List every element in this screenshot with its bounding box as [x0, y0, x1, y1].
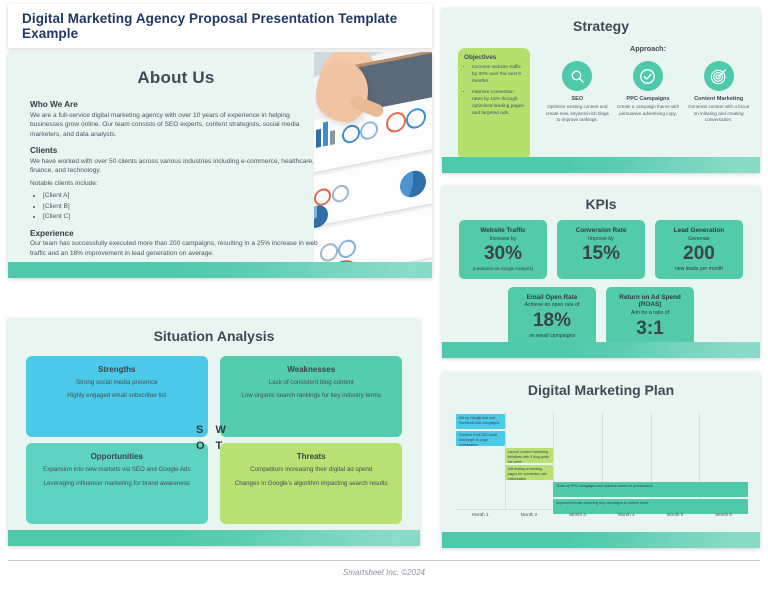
kpi-footnote: (measured via Google Analytics): [463, 266, 543, 271]
gantt-task-bar[interactable]: Set up Google Ads and Facebook Ads campa…: [456, 414, 505, 429]
approach-desc: Create a campaign theme with persuasive …: [615, 104, 681, 117]
objectives-list: Increase website traffic by 30% over the…: [464, 64, 525, 117]
list-item: Improve conversion rates by 15% through …: [472, 89, 525, 118]
about-us-card: About Us Who We Are We are a full-servic…: [8, 52, 432, 278]
team-analytics-photo: [314, 52, 432, 262]
page-title: Digital Marketing Agency Proposal Presen…: [8, 11, 432, 41]
plan-title: Digital Marketing Plan: [442, 382, 760, 398]
quadrant-heading: Strengths: [38, 365, 196, 374]
approach-item-content-marketing: Content Marketing Generate content with …: [686, 61, 752, 124]
gantt-month-label: Month 4: [602, 512, 651, 526]
approach-section: Approach: SEO Optimize existing content …: [542, 44, 754, 124]
kpi-subtitle: Achieve an open rate of: [512, 302, 592, 309]
kpi-card-return-on-ad-spend: Return on Ad Spend (ROAS) Aim for a rati…: [606, 287, 694, 347]
quadrant-point: Leveraging influencer marketing for bran…: [38, 480, 196, 488]
footer-divider: [8, 560, 760, 561]
deck-header: Digital Marketing Agency Proposal Presen…: [8, 4, 432, 48]
objectives-panel: Objectives Increase website traffic by 3…: [458, 48, 530, 160]
kpi-footnote: on email campaigns: [512, 333, 592, 339]
quadrant-point: Strong social media presence: [38, 379, 196, 387]
kpi-subtitle: Generate: [659, 236, 739, 243]
accent-bar: [8, 262, 432, 278]
accent-bar: [442, 532, 760, 548]
kpi-card-conversion-rate: Conversion Rate Improve by 15%: [557, 220, 645, 279]
accent-bar: [8, 530, 420, 546]
experience-heading: Experience: [30, 229, 322, 238]
quadrant-heading: Threats: [232, 452, 390, 461]
kpi-subtitle: Increase by: [463, 236, 543, 243]
situation-analysis-card: Situation Analysis Strengths Strong soci…: [8, 318, 420, 546]
kpi-footnote: new leads per month: [659, 266, 739, 272]
situation-analysis-title: Situation Analysis: [8, 328, 420, 344]
approach-item-ppc: PPC Campaigns Create a campaign theme wi…: [615, 61, 681, 124]
kpi-card-lead-generation: Lead Generation Generate 200 new leads p…: [655, 220, 743, 279]
swot-quadrant-opportunities: Opportunities Expansion into new markets…: [26, 443, 208, 524]
gantt-month-label: Month 5: [651, 512, 700, 526]
quadrant-heading: Weaknesses: [232, 365, 390, 374]
kpi-card-website-traffic: Website Traffic Increase by 30% (measure…: [459, 220, 547, 279]
approach-name: SEO: [544, 96, 610, 102]
gantt-task-bar[interactable]: Launch content marketing initiatives wit…: [505, 448, 554, 463]
kpi-row-1: Website Traffic Increase by 30% (measure…: [442, 220, 760, 279]
gantt-month-label: Month 6: [699, 512, 748, 526]
swot-quadrant-strengths: Strengths Strong social media presence H…: [26, 356, 208, 437]
notable-clients-list: [Client A] [Client B] [Client C]: [30, 191, 322, 222]
approach-desc: Optimize existing content and create new…: [544, 104, 610, 124]
gantt-month-label: Month 2: [505, 512, 554, 526]
swot-letter-o: O: [196, 440, 205, 452]
swot-grid: Strengths Strong social media presence H…: [26, 356, 402, 524]
swot-quadrant-weaknesses: Weaknesses Lack of consistent blog conte…: [220, 356, 402, 437]
gantt-task-bar[interactable]: A/B testing on landing pages for convers…: [505, 465, 554, 480]
kpi-value: 200: [659, 243, 739, 265]
kpi-subtitle: Aim for a ratio of: [610, 310, 690, 317]
swot-letter-w: W: [216, 424, 226, 436]
target-icon: [704, 61, 734, 91]
who-we-are-heading: Who We Are: [30, 100, 322, 109]
kpi-value: 18%: [512, 310, 592, 332]
kpi-subtitle: Improve by: [561, 236, 641, 243]
gantt-chart: Set up Google Ads and Facebook Ads campa…: [456, 412, 748, 526]
kpi-title: Website Traffic: [463, 227, 543, 235]
gantt-task-bar[interactable]: Scale up PPC campaigns and optimize base…: [553, 482, 748, 497]
quadrant-point: Changes in Google's algorithm impacting …: [232, 480, 390, 488]
gantt-month-label: Month 3: [553, 512, 602, 526]
kpis-title: KPIs: [442, 196, 760, 212]
quadrant-point: Lack of consistent blog content: [232, 379, 390, 387]
kpi-card-email-open-rate: Email Open Rate Achieve an open rate of …: [508, 287, 596, 347]
approach-name: Content Marketing: [686, 96, 752, 102]
kpi-value: 15%: [561, 243, 641, 265]
experience-text: Our team has successfully executed more …: [30, 239, 322, 258]
swot-quadrant-threats: Threats Competitors increasing their dig…: [220, 443, 402, 524]
approach-desc: Generate content with a focus on initiat…: [686, 104, 752, 124]
kpi-value: 30%: [463, 243, 543, 265]
search-icon: [562, 61, 592, 91]
check-circle-icon: [633, 61, 663, 91]
list-item: [Client B]: [43, 202, 322, 212]
kpi-value: 3:1: [610, 318, 690, 340]
list-item: [Client A]: [43, 191, 322, 201]
clients-text: We have worked with over 50 clients acro…: [30, 157, 322, 176]
notable-clients-label: Notable clients include:: [30, 179, 322, 189]
approach-name: PPC Campaigns: [615, 96, 681, 102]
clients-heading: Clients: [30, 146, 322, 155]
list-item: [Client C]: [43, 212, 322, 222]
swot-letter-t: T: [216, 440, 223, 452]
list-item: Increase website traffic by 30% over the…: [472, 64, 525, 86]
approach-item-seo: SEO Optimize existing content and create…: [544, 61, 610, 124]
quadrant-point: Expansion into new markets via SEO and G…: [38, 466, 196, 474]
about-title: About Us: [30, 68, 322, 88]
kpi-title: Conversion Rate: [561, 227, 641, 235]
swot-letter-s: S: [196, 424, 203, 436]
slide-deck-page: Digital Marketing Agency Proposal Presen…: [0, 0, 768, 589]
quadrant-point: Highly engaged email subscriber list: [38, 392, 196, 400]
kpi-title: Email Open Rate: [512, 294, 592, 302]
kpi-row-2: Email Open Rate Achieve an open rate of …: [442, 287, 760, 347]
footer-credit: Smartsheet Inc. ©2024: [0, 568, 768, 577]
quadrant-heading: Opportunities: [38, 452, 196, 461]
kpi-title: Return on Ad Spend (ROAS): [610, 294, 690, 309]
kpi-title: Lead Generation: [659, 227, 739, 235]
accent-bar: [442, 342, 760, 358]
strategy-title: Strategy: [442, 18, 760, 34]
objectives-title: Objectives: [464, 54, 525, 61]
who-we-are-text: We are a full-service digital marketing …: [30, 111, 322, 140]
accent-bar: [442, 157, 760, 173]
strategy-card: Strategy Objectives Increase website tra…: [442, 8, 760, 173]
gantt-task-bar[interactable]: Conduct a full SEO audit and begin on-pa…: [456, 431, 505, 446]
approach-label: Approach:: [542, 44, 754, 53]
kpis-card: KPIs Website Traffic Increase by 30% (me…: [442, 186, 760, 358]
gantt-month-label: Month 1: [456, 512, 505, 526]
quadrant-point: Low organic search rankings for key indu…: [232, 392, 390, 400]
quadrant-point: Competitors increasing their digital ad …: [232, 466, 390, 474]
digital-marketing-plan-card: Digital Marketing Plan Set up Google Ads…: [442, 372, 760, 548]
gantt-month-labels: Month 1Month 2Month 3Month 4Month 5Month…: [456, 512, 748, 526]
